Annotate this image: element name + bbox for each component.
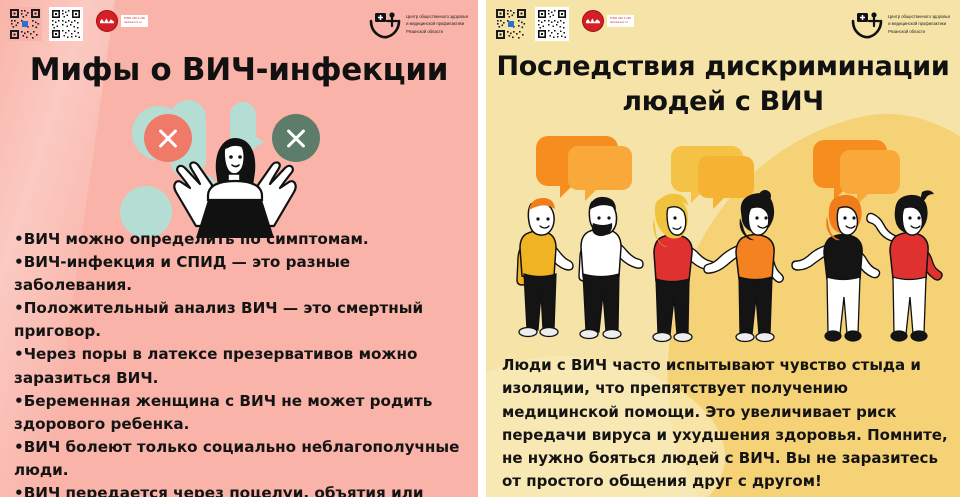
person-6 xyxy=(867,190,942,341)
qr-code-icon-2[interactable] xyxy=(49,7,83,41)
left-panel-title: Мифы о ВИЧ-инфекции xyxy=(0,52,478,88)
takzdorovo-logo[interactable]: 8 800 200 0 200 takzdorovo.ru xyxy=(96,10,148,32)
list-item: •Беременная женщина с ВИЧ не может родит… xyxy=(14,390,470,436)
right-title-line-1: Последствия дискриминации xyxy=(486,50,960,85)
qr-code-icon-2[interactable] xyxy=(535,7,569,41)
right-panel-title: Последствия дискриминации людей с ВИЧ xyxy=(486,50,960,119)
poster-pair: 8 800 200 0 200 takzdorovo.ru Центр обще… xyxy=(0,0,960,497)
org-line-3: Рязанской области xyxy=(888,28,950,35)
qr-code-icon-1[interactable] xyxy=(8,7,42,41)
qr-code-icon-1[interactable] xyxy=(494,7,528,41)
person-1 xyxy=(517,198,573,337)
takzdorovo-logo[interactable]: 8 800 200 0 200 takzdorovo.ru xyxy=(582,10,634,32)
panel-divider xyxy=(478,0,486,497)
woman-figure xyxy=(156,130,314,240)
org-line-2: и медицинской профилактики xyxy=(406,20,468,27)
org-line-2: и медицинской профилактики xyxy=(888,20,950,27)
list-item: •ВИЧ-инфекция и СПИД — это разные заболе… xyxy=(14,251,470,297)
shrugging-woman-illustration xyxy=(108,100,358,240)
list-item: •Через поры в латексе презервативов можн… xyxy=(14,343,470,389)
list-item: •ВИЧ передается через поцелуи, объятия и… xyxy=(14,482,470,497)
list-item: •Положительный анализ ВИЧ — это смертный… xyxy=(14,297,470,343)
hotline-site: takzdorovo.ru xyxy=(610,21,631,25)
left-poster-panel: 8 800 200 0 200 takzdorovo.ru Центр обще… xyxy=(0,0,478,497)
list-item: •ВИЧ болеют только социально неблагополу… xyxy=(14,436,470,482)
org-logo-text: Центр общественного здоровья и медицинск… xyxy=(888,13,950,35)
right-poster-panel: 8 800 200 0 200 takzdorovo.ru Центр обще… xyxy=(486,0,960,497)
left-header-badges: 8 800 200 0 200 takzdorovo.ru xyxy=(8,7,148,41)
right-header-badges: 8 800 200 0 200 takzdorovo.ru xyxy=(494,7,634,41)
org-line-3: Рязанской области xyxy=(406,28,468,35)
right-panel-paragraph: Люди с ВИЧ часто испытывают чувство стыд… xyxy=(502,354,948,494)
people-talking-illustration xyxy=(486,118,960,346)
org-line-1: Центр общественного здоровья xyxy=(888,13,950,20)
org-logo-text: Центр общественного здоровья и медицинск… xyxy=(406,13,468,35)
org-line-1: Центр общественного здоровья xyxy=(406,13,468,20)
health-center-logo-icon xyxy=(369,9,401,39)
person-4 xyxy=(704,190,783,342)
takzdorovo-circle-icon xyxy=(582,10,604,32)
takzdorovo-contact: 8 800 200 0 200 takzdorovo.ru xyxy=(607,15,634,27)
person-2 xyxy=(579,197,643,339)
org-logo-left: Центр общественного здоровья и медицинск… xyxy=(369,9,468,39)
takzdorovo-circle-icon xyxy=(96,10,118,32)
paragraph-text: Люди с ВИЧ часто испытывают чувство стыд… xyxy=(502,354,948,494)
org-logo-right: Центр общественного здоровья и медицинск… xyxy=(851,9,950,39)
left-panel-bullet-list: •ВИЧ можно определить по симптомам. •ВИЧ… xyxy=(14,228,470,497)
health-center-logo-icon xyxy=(851,9,883,39)
right-title-line-2: людей с ВИЧ xyxy=(486,85,960,120)
list-item: •ВИЧ можно определить по симптомам. xyxy=(14,228,470,251)
takzdorovo-contact: 8 800 200 0 200 takzdorovo.ru xyxy=(121,15,148,27)
hotline-site: takzdorovo.ru xyxy=(124,21,145,25)
